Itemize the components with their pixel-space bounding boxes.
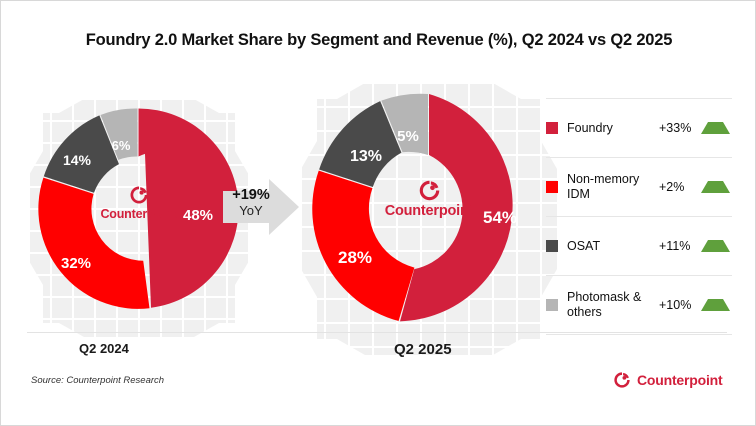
footer-brand-wordmark: Counterpoint <box>637 372 722 388</box>
legend-swatch-photomask-others <box>546 299 558 311</box>
legend-swatch-osat <box>546 240 558 252</box>
triangle-up-icon <box>701 299 730 311</box>
legend-label-photomask-others: Photomask & others <box>567 290 659 320</box>
yoy-growth-unit: YoY <box>223 204 279 219</box>
yoy-growth-badge: +19% YoY <box>223 179 299 235</box>
legend: Foundry +33% Non-memory IDM +2% OSAT +11… <box>546 98 732 335</box>
yoy-growth-value: +19% <box>223 187 279 204</box>
slice-value-osat-right: 13% <box>350 148 382 165</box>
legend-label-osat: OSAT <box>567 239 659 254</box>
chart-canvas: Foundry 2.0 Market Share by Segment and … <box>0 0 756 426</box>
legend-item-photomask-others[interactable]: Photomask & others +10% <box>546 275 732 335</box>
donut-svg-right: 54% 28% 13% 5% <box>306 87 552 333</box>
slice-value-foundry-left: 48% <box>183 207 213 224</box>
donut-chart-q2-2024: 48% 32% 14% 6% Counterpoint <box>32 102 245 315</box>
triangle-up-icon <box>701 240 730 252</box>
period-label-q2-2024: Q2 2024 <box>79 341 129 356</box>
triangle-up-icon <box>701 122 730 134</box>
legend-label-foundry: Foundry <box>567 121 659 136</box>
triangle-up-icon <box>701 181 730 193</box>
slice-value-osat-left: 14% <box>63 152 92 168</box>
donut-svg-left: 48% 32% 14% 6% <box>32 102 245 315</box>
legend-delta-photomask-others: +10% <box>659 298 701 312</box>
slice-value-photomask-others-left: 6% <box>112 138 131 153</box>
legend-item-non-memory-idm[interactable]: Non-memory IDM +2% <box>546 157 732 216</box>
page-title: Foundry 2.0 Market Share by Segment and … <box>1 31 756 50</box>
donut-chart-q2-2025: 54% 28% 13% 5% Counterpoint <box>306 87 552 333</box>
slice-value-foundry-right: 54% <box>483 208 517 227</box>
legend-label-non-memory-idm: Non-memory IDM <box>567 172 659 202</box>
legend-delta-non-memory-idm: +2% <box>659 180 701 194</box>
counterpoint-logo-icon <box>613 371 631 389</box>
slice-nonmemory-idm-right <box>312 171 414 321</box>
slice-value-photomask-others-right: 5% <box>397 128 419 145</box>
yoy-growth-badge-text: +19% YoY <box>223 187 279 219</box>
legend-delta-osat: +11% <box>659 239 701 253</box>
legend-item-foundry[interactable]: Foundry +33% <box>546 98 732 157</box>
slice-value-nonmemory-idm-right: 28% <box>338 248 372 267</box>
legend-swatch-foundry <box>546 122 558 134</box>
source-note: Source: Counterpoint Research <box>31 375 164 386</box>
footer-brand-logo: Counterpoint <box>613 371 722 389</box>
legend-delta-foundry: +33% <box>659 121 701 135</box>
legend-item-osat[interactable]: OSAT +11% <box>546 216 732 275</box>
legend-swatch-non-memory-idm <box>546 181 558 193</box>
slice-nonmemory-idm-left <box>38 178 149 309</box>
period-label-q2-2025: Q2 2025 <box>394 341 452 358</box>
slice-value-nonmemory-idm-left: 32% <box>61 255 91 272</box>
